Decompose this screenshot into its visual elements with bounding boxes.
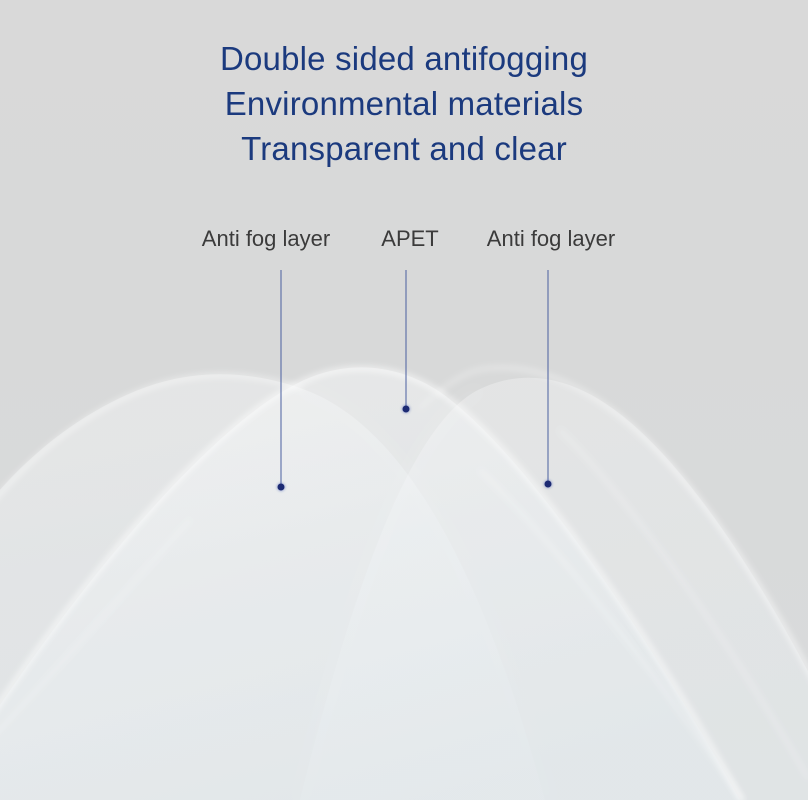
- callout-dot-anti-fog-layer-left: [278, 484, 285, 491]
- headline-block: Double sided antifogging Environmental m…: [0, 36, 808, 171]
- callout-leader-line-apet: [406, 270, 407, 410]
- callout-label-anti-fog-layer-right: Anti fog layer: [487, 226, 615, 252]
- headline-line-2: Environmental materials: [0, 81, 808, 126]
- product-graphic-canvas: Double sided antifogging Environmental m…: [0, 0, 808, 800]
- callout-dot-anti-fog-layer-right: [545, 481, 552, 488]
- headline-line-3: Transparent and clear: [0, 126, 808, 171]
- headline-line-1: Double sided antifogging: [0, 36, 808, 81]
- callout-leader-line-anti-fog-layer-right: [548, 270, 549, 485]
- callout-label-apet: APET: [381, 226, 438, 252]
- callout-dot-apet: [403, 406, 410, 413]
- callout-leader-line-anti-fog-layer-left: [281, 270, 282, 488]
- callout-label-anti-fog-layer-left: Anti fog layer: [202, 226, 330, 252]
